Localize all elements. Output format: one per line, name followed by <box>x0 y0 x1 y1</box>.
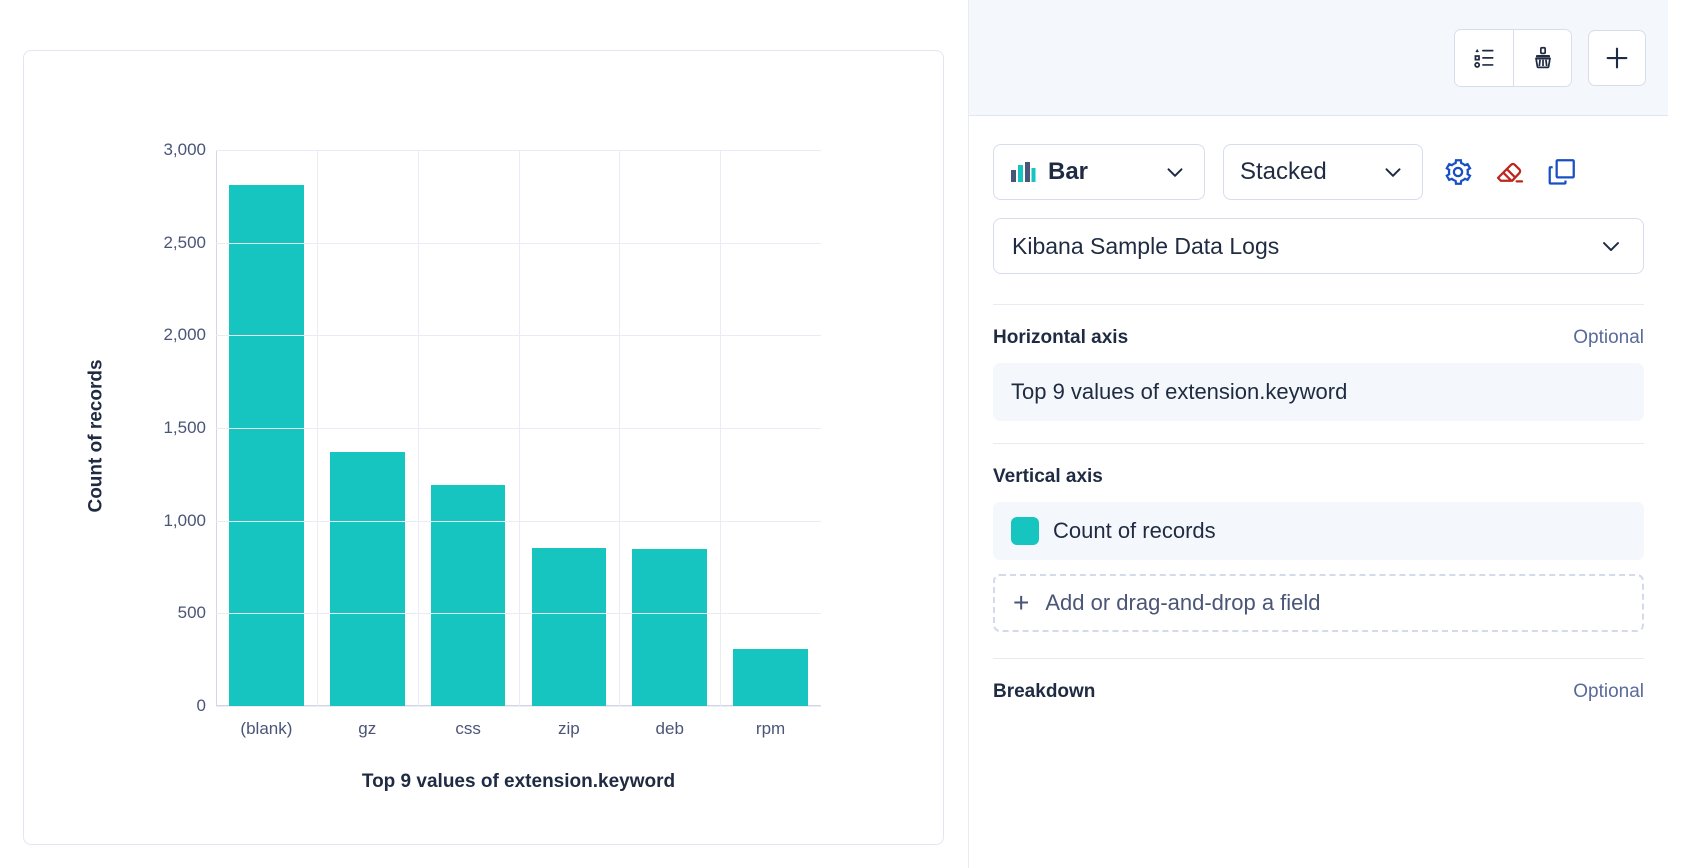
chart-workspace: Count of records 3,0002,5002,0001,5001,0… <box>0 0 968 868</box>
legend-options-icon <box>1471 45 1497 71</box>
x-axis-title: Top 9 values of extension.keyword <box>216 771 821 793</box>
x-axis-tick-label: zip <box>518 719 619 739</box>
chart-inner: Count of records 3,0002,5002,0001,5001,0… <box>24 51 943 844</box>
x-axis-tick-label: css <box>418 719 519 739</box>
chart-controls-row: Bar Stacked <box>993 144 1644 200</box>
x-axis-tick-label: deb <box>619 719 720 739</box>
dimension-vertical-axis[interactable]: Count of records <box>993 502 1644 560</box>
bar-chart-icon <box>1010 160 1036 184</box>
lens-editor: Count of records 3,0002,5002,0001,5001,0… <box>0 0 1694 868</box>
add-field-dropzone[interactable]: + Add or drag-and-drop a field <box>993 574 1644 632</box>
config-panel: Bar Stacked <box>968 0 1668 868</box>
y-axis-tick-label: 0 <box>197 696 206 716</box>
paintbrush-icon <box>1530 45 1556 71</box>
legend-options-button[interactable] <box>1455 30 1513 86</box>
y-axis-tick-label: 500 <box>178 603 206 623</box>
color-swatch <box>1011 517 1039 545</box>
visualization-settings-button[interactable] <box>1441 155 1475 189</box>
bar[interactable] <box>431 485 506 706</box>
chart-panel: Count of records 3,0002,5002,0001,5001,0… <box>23 50 944 845</box>
chevron-down-icon <box>1162 159 1188 185</box>
dimension-label: Top 9 values of extension.keyword <box>1011 379 1347 405</box>
section-vertical-axis: Vertical axis Count of records + Add or … <box>993 466 1644 632</box>
plus-icon: + <box>1013 589 1029 617</box>
dropzone-label: Add or drag-and-drop a field <box>1045 590 1320 616</box>
chart-subtype-label: Stacked <box>1240 158 1368 186</box>
gridline-vertical <box>418 150 419 706</box>
plus-icon <box>1602 43 1632 73</box>
section-title: Horizontal axis <box>993 327 1128 349</box>
x-axis-tick-label: gz <box>317 719 418 739</box>
y-axis-title-text: Count of records <box>86 359 108 512</box>
datasource-select[interactable]: Kibana Sample Data Logs <box>993 218 1644 274</box>
eraser-icon <box>1494 156 1526 188</box>
add-layer-button[interactable] <box>1588 30 1646 86</box>
bar[interactable] <box>632 549 707 706</box>
x-axis-ticks: (blank)gzcsszipdebrpm <box>216 719 821 739</box>
section-header: Vertical axis <box>993 466 1644 488</box>
chevron-down-icon <box>1597 232 1625 260</box>
y-axis-tick-label: 2,000 <box>163 325 206 345</box>
y-axis-tick-label: 2,500 <box>163 233 206 253</box>
section-optional-label: Optional <box>1573 681 1644 703</box>
bar[interactable] <box>330 452 405 706</box>
y-axis-title: Count of records <box>82 321 112 551</box>
dimension-label: Count of records <box>1053 518 1216 544</box>
gridline-vertical <box>619 150 620 706</box>
config-panel-header <box>969 0 1668 116</box>
x-axis-tick-label: rpm <box>720 719 821 739</box>
section-breakdown: Breakdown Optional <box>993 681 1644 703</box>
chart-subtype-select[interactable]: Stacked <box>1223 144 1423 200</box>
duplicate-layer-button[interactable] <box>1545 155 1579 189</box>
y-axis-ticks: 3,0002,5002,0001,5001,0005000 <box>114 150 206 706</box>
color-palette-button[interactable] <box>1513 30 1571 86</box>
section-horizontal-axis: Horizontal axis Optional Top 9 values of… <box>993 327 1644 421</box>
gridline-horizontal <box>216 706 821 707</box>
section-divider <box>993 658 1644 659</box>
section-title: Breakdown <box>993 681 1095 703</box>
section-divider <box>993 443 1644 444</box>
gear-icon <box>1442 156 1474 188</box>
panel-button-group <box>1454 29 1572 87</box>
plot-area <box>216 150 821 706</box>
bar[interactable] <box>733 649 808 706</box>
datasource-label: Kibana Sample Data Logs <box>1012 233 1597 260</box>
gridline-vertical <box>519 150 520 706</box>
dimension-horizontal-axis[interactable]: Top 9 values of extension.keyword <box>993 363 1644 421</box>
clear-layer-button[interactable] <box>1493 155 1527 189</box>
bar[interactable] <box>229 185 304 706</box>
gridline-vertical <box>317 150 318 706</box>
config-panel-body: Bar Stacked <box>969 116 1668 703</box>
section-divider <box>993 304 1644 305</box>
y-axis-tick-label: 1,500 <box>163 418 206 438</box>
bar[interactable] <box>532 548 607 706</box>
section-optional-label: Optional <box>1573 327 1644 349</box>
chevron-down-icon <box>1380 159 1406 185</box>
gridline-vertical <box>720 150 721 706</box>
x-axis-tick-label: (blank) <box>216 719 317 739</box>
section-header: Breakdown Optional <box>993 681 1644 703</box>
section-header: Horizontal axis Optional <box>993 327 1644 349</box>
section-title: Vertical axis <box>993 466 1103 488</box>
y-axis-tick-label: 3,000 <box>163 140 206 160</box>
copy-icon <box>1546 156 1578 188</box>
chart-type-select[interactable]: Bar <box>993 144 1205 200</box>
chart-type-label: Bar <box>1048 158 1150 186</box>
y-axis-tick-label: 1,000 <box>163 511 206 531</box>
